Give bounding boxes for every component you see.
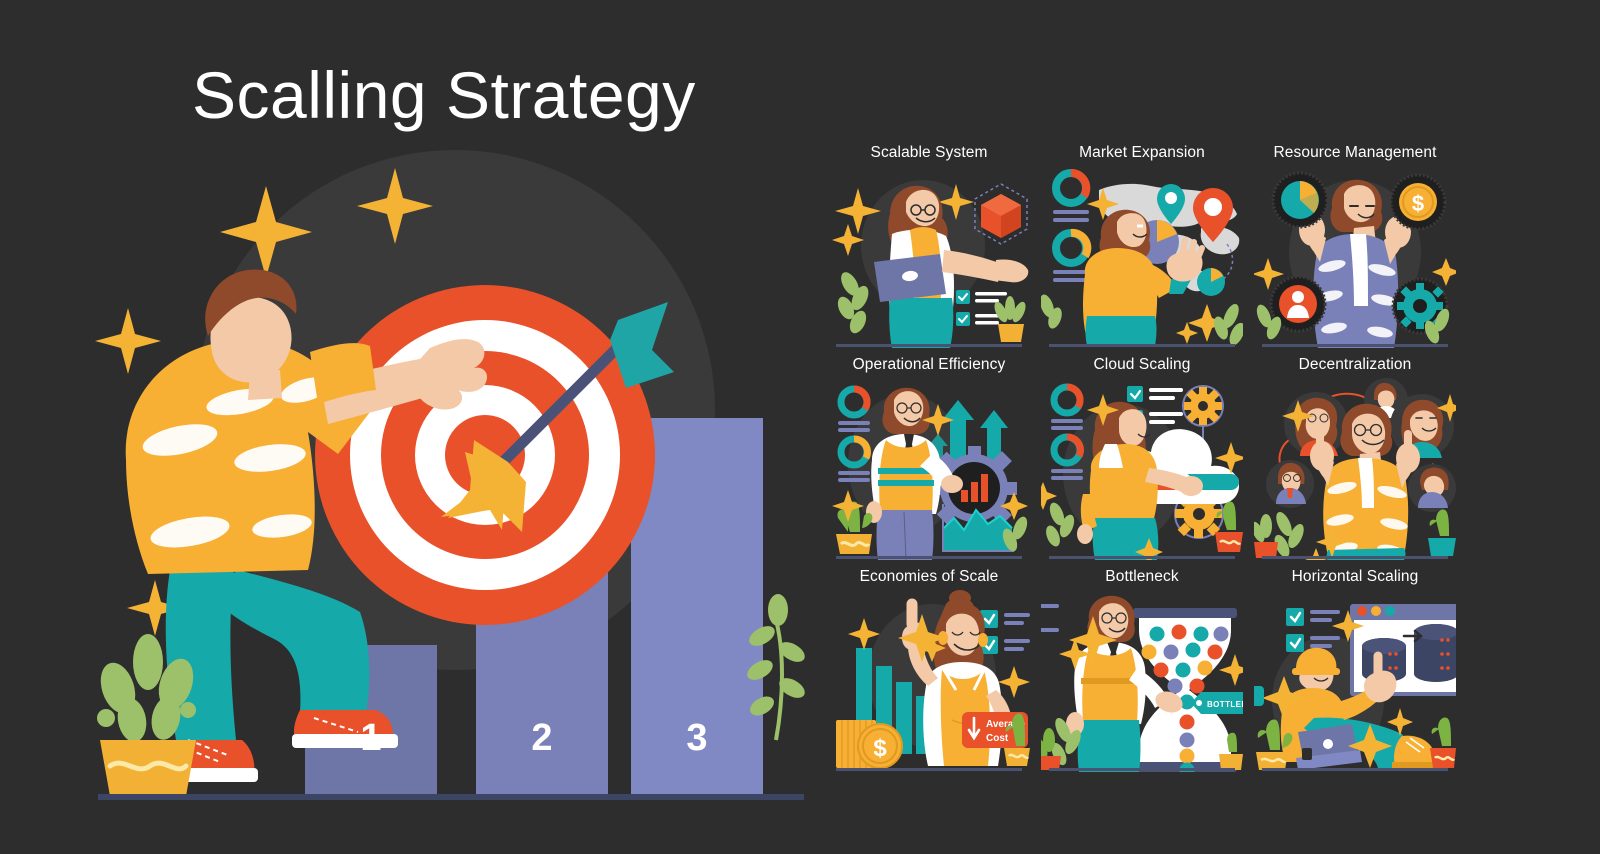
donut-chart-icon <box>1053 173 1089 282</box>
cell-label-cloud-scaling: Cloud Scaling <box>1041 356 1243 374</box>
grid-cell-economies-of-scale[interactable]: Economies of Scale <box>828 568 1030 774</box>
coin-stack-icon: $ <box>836 720 902 768</box>
cell-art-scalable-system <box>828 166 1030 348</box>
plant-icon <box>1041 293 1064 331</box>
hero-illustration: 1 2 3 <box>70 140 830 800</box>
potted-plant-right-icon <box>1430 717 1456 768</box>
svg-text:$: $ <box>873 735 887 762</box>
cell-label-resource-management: Resource Management <box>1254 144 1456 162</box>
pie-chart-badge <box>1273 173 1327 227</box>
cell-label-market-expansion: Market Expansion <box>1041 144 1243 162</box>
plant-right-icon <box>1211 302 1243 348</box>
woman-adjusting-slider <box>1077 402 1203 560</box>
floor-line <box>98 794 804 800</box>
plant-icon <box>1271 510 1306 560</box>
grid-cell-operational-efficiency[interactable]: Operational Efficiency <box>828 356 1030 562</box>
bottleneck-tag-label: BOTTLENECK <box>1207 700 1243 709</box>
cell-label-economies-of-scale: Economies of Scale <box>828 568 1030 586</box>
checklist-icon <box>1286 608 1340 652</box>
bar-label-1: 1 <box>360 717 381 759</box>
tag-fragment <box>1254 686 1264 706</box>
infographic-canvas: Scalling Strategy <box>0 0 1600 854</box>
cell-label-horizontal-scaling: Horizontal Scaling <box>1254 568 1456 586</box>
bar-label-2: 2 <box>531 717 552 759</box>
shoe-front <box>292 710 398 748</box>
hero-scene-svg: 1 2 3 <box>70 140 830 800</box>
checklist-icon <box>980 610 1030 654</box>
cell-art-bottleneck: BOTTLENECK <box>1041 590 1243 772</box>
cell-art-decentralization <box>1254 378 1456 560</box>
grid-cell-market-expansion[interactable]: Market Expansion <box>1041 144 1243 350</box>
person-node <box>1266 460 1314 508</box>
man-pointing-at-map <box>1083 210 1203 346</box>
potted-plant-icon <box>992 296 1028 342</box>
dollar-badge: $ <box>1391 175 1445 229</box>
potted-plant-icon-right <box>1428 509 1456 556</box>
grid-cell-bottleneck[interactable]: Bottleneck <box>1041 568 1243 774</box>
cell-label-operational-efficiency: Operational Efficiency <box>828 356 1030 374</box>
cell-art-cloud-scaling <box>1041 378 1243 560</box>
badge-line-2: Cost <box>986 733 1009 744</box>
concept-grid: Scalable System <box>828 144 1480 774</box>
cell-art-market-expansion <box>1041 166 1243 348</box>
grid-cell-resource-management[interactable]: Resource Management <box>1254 144 1456 350</box>
cell-art-operational-efficiency <box>828 378 1030 560</box>
cell-label-scalable-system: Scalable System <box>828 144 1030 162</box>
checklist-icon <box>1041 604 1059 632</box>
grid-cell-horizontal-scaling[interactable]: Horizontal Scaling <box>1254 568 1456 774</box>
cell-label-decentralization: Decentralization <box>1254 356 1456 374</box>
grid-cell-cloud-scaling[interactable]: Cloud Scaling <box>1041 356 1243 562</box>
bottleneck-tag: BOTTLENECK <box>1191 692 1243 714</box>
cell-label-bottleneck: Bottleneck <box>1041 568 1243 586</box>
svg-text:$: $ <box>1412 191 1424 216</box>
grid-cell-scalable-system[interactable]: Scalable System <box>828 144 1030 350</box>
cell-art-resource-management: $ <box>1254 166 1456 348</box>
plant-icon <box>835 269 872 336</box>
grid-cell-decentralization[interactable]: Decentralization <box>1254 356 1456 562</box>
page-title: Scalling Strategy <box>192 62 696 128</box>
cell-art-horizontal-scaling <box>1254 590 1456 772</box>
bar-label-3: 3 <box>686 717 707 759</box>
person-node <box>1408 464 1456 512</box>
potted-plant-icon <box>1254 514 1278 558</box>
cell-art-economies-of-scale: $ Average Cost <box>828 590 1030 772</box>
